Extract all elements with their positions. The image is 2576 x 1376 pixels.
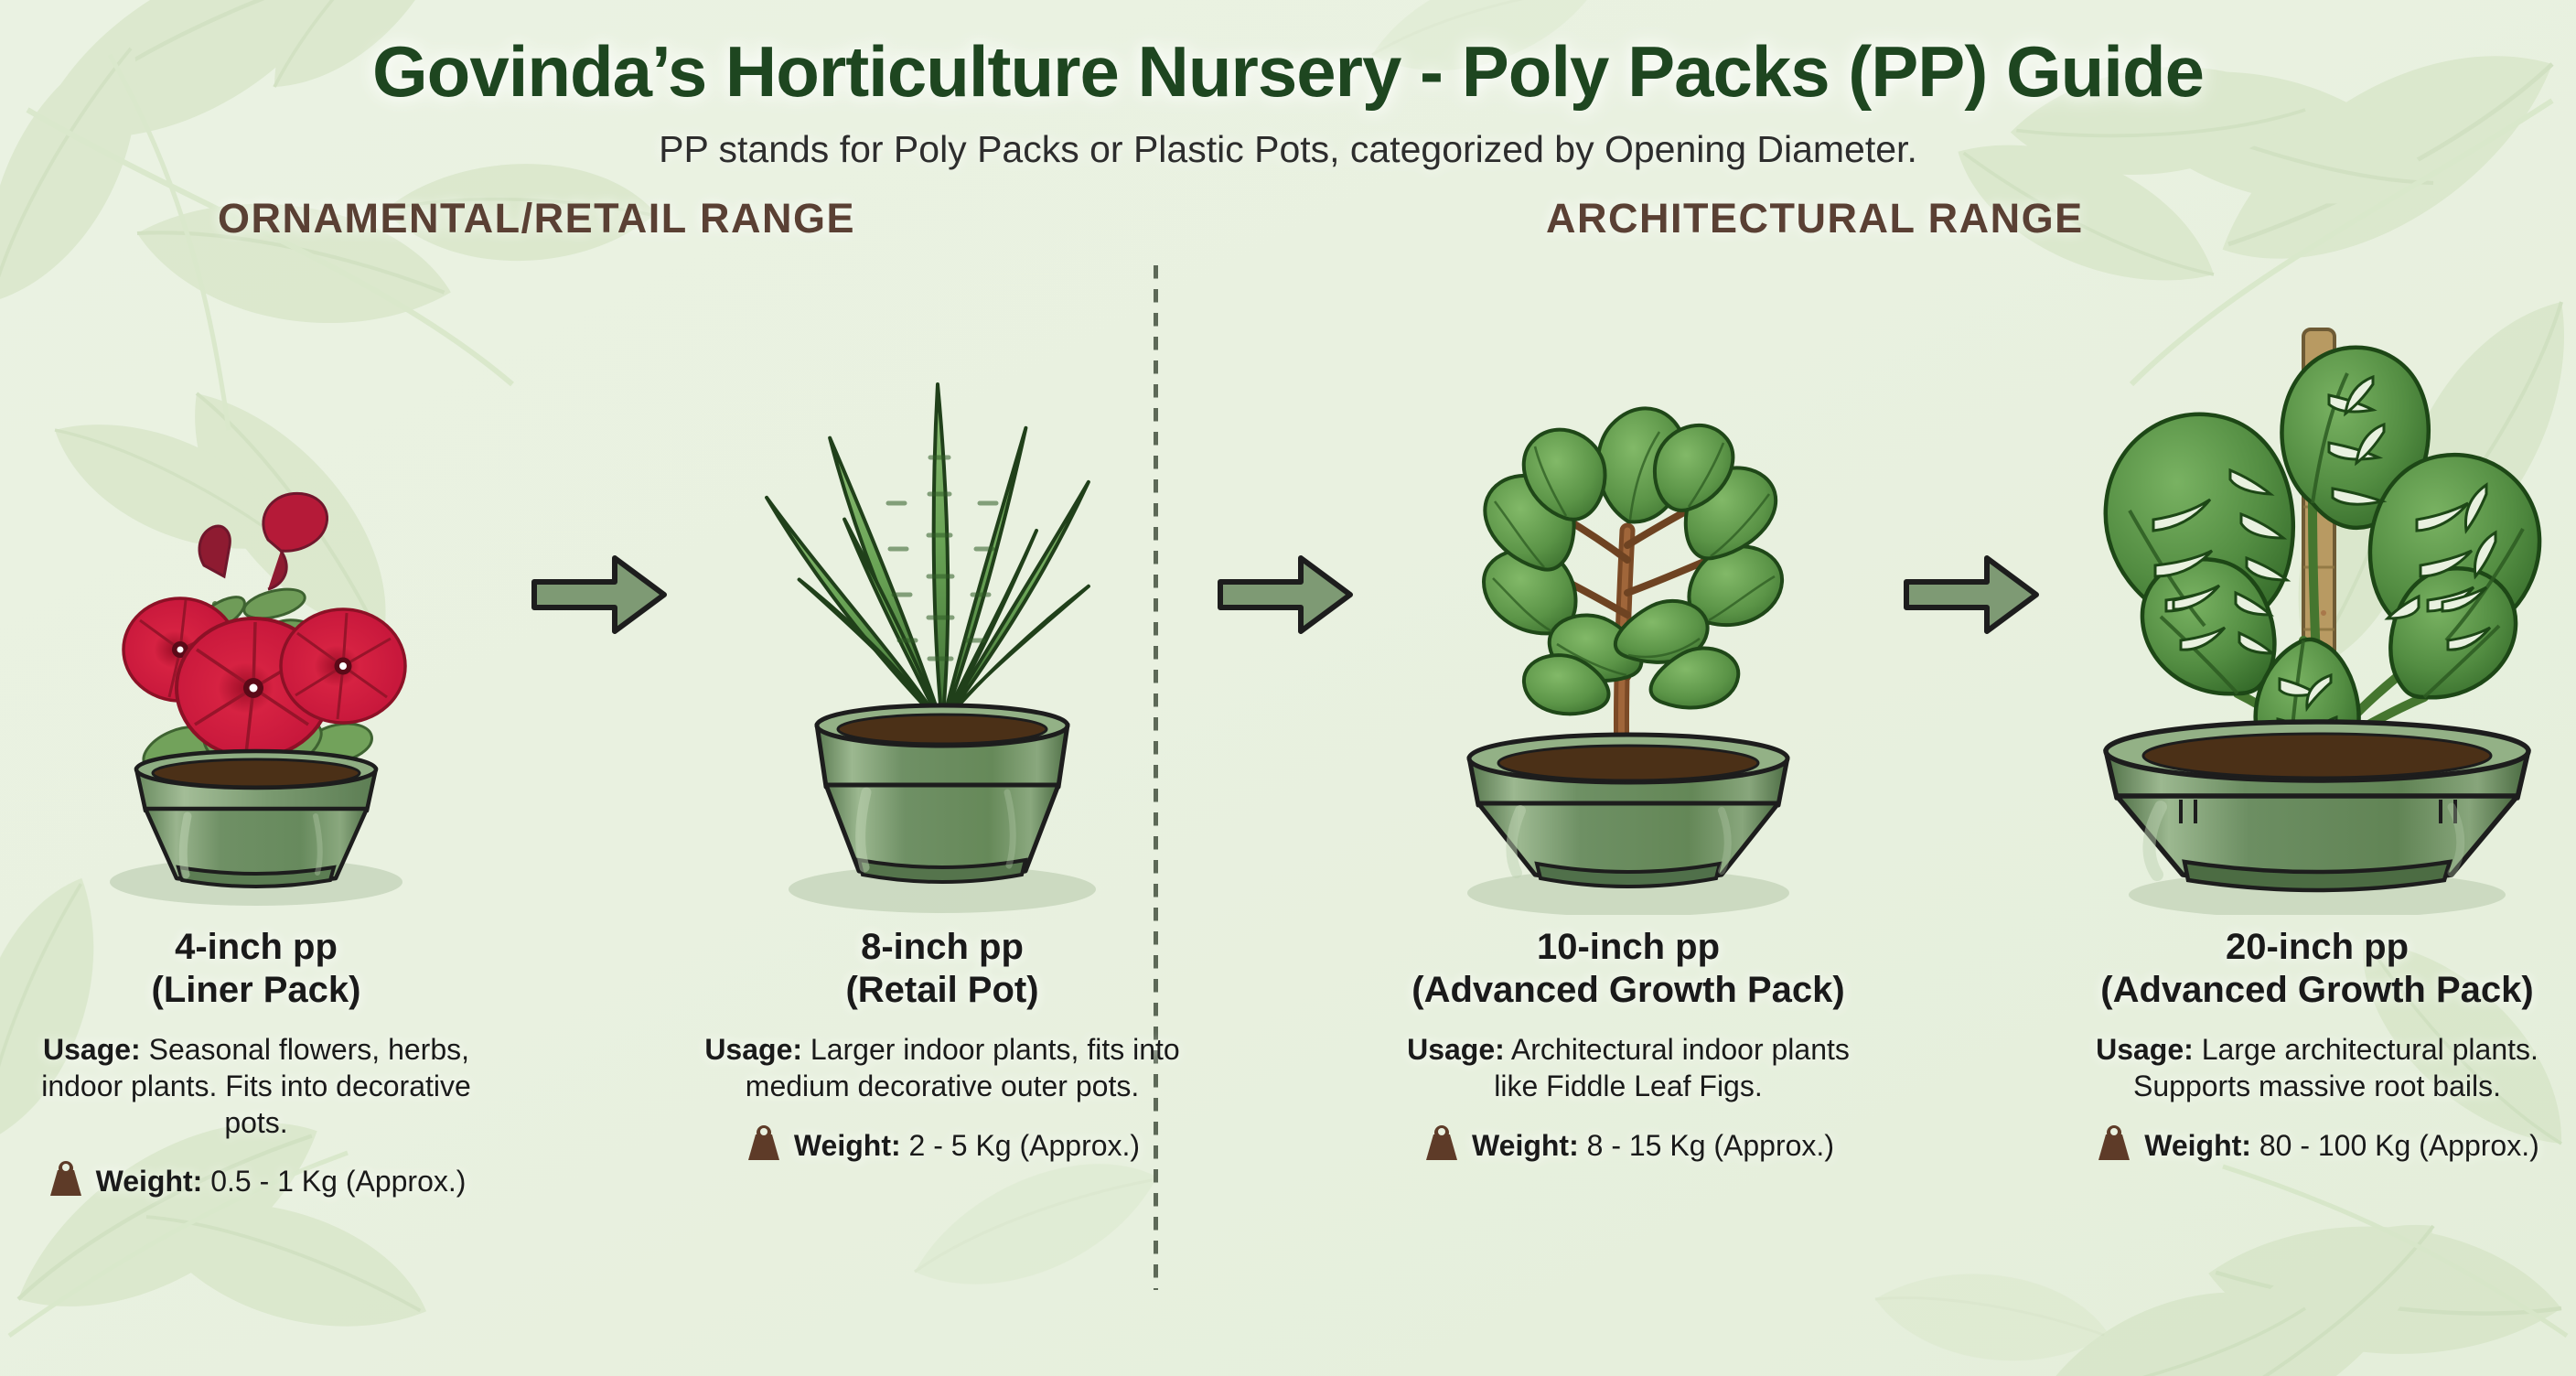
weight-icon (47, 1159, 85, 1204)
card-pp-10-inch[interactable]: 10-inch pp(Advanced Growth Pack) Usage: … (1372, 274, 1884, 1299)
pot-size-label: 4-inch pp(Liner Pack) (0, 926, 512, 1012)
weight-icon (1422, 1123, 1461, 1168)
usage-text: Usage: Architectural indoor plants like … (1372, 1032, 1884, 1104)
card-pp-8-inch[interactable]: 8-inch pp(Retail Pot) Usage: Larger indo… (686, 274, 1198, 1299)
arrow-right-icon (531, 549, 668, 640)
arrow-2 (1198, 274, 1372, 915)
plant-illustration-snake-plant (686, 274, 1198, 915)
weight-row: Weight: 0.5 - 1 Kg (Approx.) (0, 1159, 512, 1204)
usage-text: Usage: Large architectural plants. Suppo… (2058, 1032, 2576, 1104)
weight-row: Weight: 80 - 100 Kg (Approx.) (2058, 1123, 2576, 1168)
plant-illustration-petunia (0, 274, 512, 915)
arrow-1 (512, 274, 686, 915)
header: Govinda’s Horticulture Nursery - Poly Pa… (0, 0, 2576, 171)
pot-size-label: 8-inch pp(Retail Pot) (686, 926, 1198, 1012)
weight-icon (2095, 1123, 2133, 1168)
card-pp-4-inch[interactable]: 4-inch pp(Liner Pack) Usage: Seasonal fl… (0, 274, 512, 1299)
pot-size-label: 10-inch pp(Advanced Growth Pack) (1372, 926, 1884, 1012)
range-headers: ORNAMENTAL/RETAIL RANGE ARCHITECTURAL RA… (0, 195, 2576, 274)
arrow-right-icon (1903, 549, 2040, 640)
arrow-3 (1884, 274, 2058, 915)
weight-text: Weight: 2 - 5 Kg (Approx.) (794, 1129, 1140, 1163)
usage-text: Usage: Larger indoor plants, fits into m… (686, 1032, 1198, 1104)
weight-text: Weight: 8 - 15 Kg (Approx.) (1472, 1129, 1834, 1163)
weight-row: Weight: 8 - 15 Kg (Approx.) (1372, 1123, 1884, 1168)
usage-text: Usage: Seasonal flowers, herbs, indoor p… (0, 1032, 512, 1141)
plant-illustration-fiddle-leaf-fig (1372, 274, 1884, 915)
range-header-architectural: ARCHITECTURAL RANGE (1546, 195, 2084, 242)
infographic-page: Govinda’s Horticulture Nursery - Poly Pa… (0, 0, 2576, 1376)
plant-illustration-monstera (2058, 274, 2576, 915)
arrow-right-icon (1217, 549, 1354, 640)
range-header-ornamental: ORNAMENTAL/RETAIL RANGE (218, 195, 855, 242)
page-title: Govinda’s Horticulture Nursery - Poly Pa… (0, 35, 2576, 110)
page-subtitle: PP stands for Poly Packs or Plastic Pots… (0, 128, 2576, 171)
weight-text: Weight: 80 - 100 Kg (Approx.) (2144, 1129, 2539, 1163)
cards-stage: 4-inch pp(Liner Pack) Usage: Seasonal fl… (0, 274, 2576, 1354)
weight-row: Weight: 2 - 5 Kg (Approx.) (686, 1123, 1198, 1168)
pot-size-label: 20-inch pp(Advanced Growth Pack) (2058, 926, 2576, 1012)
weight-text: Weight: 0.5 - 1 Kg (Approx.) (96, 1165, 467, 1199)
weight-icon (745, 1123, 783, 1168)
card-pp-20-inch[interactable]: 20-inch pp(Advanced Growth Pack) Usage: … (2058, 274, 2576, 1299)
